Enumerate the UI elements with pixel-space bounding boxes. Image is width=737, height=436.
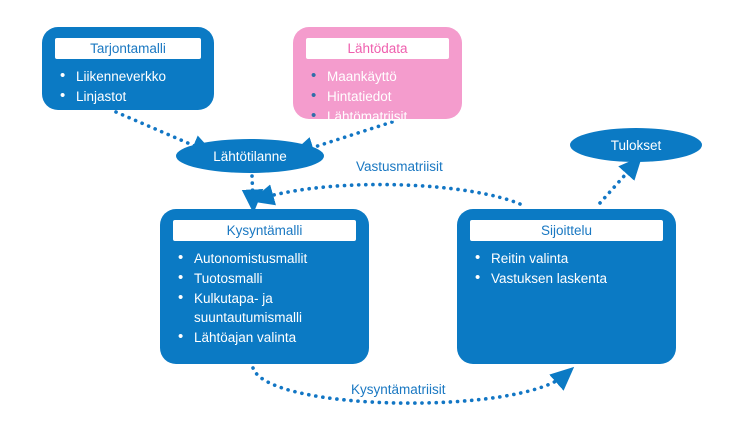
- box-sijoittelu[interactable]: Sijoittelu Reitin valinta Vastuksen lask…: [457, 209, 676, 364]
- list-item: Vastuksen laskenta: [469, 269, 664, 288]
- box-lahtodata-list: Maankäyttö Hintatiedot Lähtömatriisit: [305, 67, 450, 126]
- box-kysyntamalli-list: Autonomistusmallit Tuotosmalli Kulkutapa…: [172, 249, 357, 347]
- box-kysyntamalli-title: Kysyntämalli: [172, 219, 357, 242]
- list-item: Autonomistusmallit: [172, 249, 357, 268]
- box-tarjontamalli[interactable]: Tarjontamalli Liikenneverkko Linjastot: [42, 27, 214, 110]
- connector-label-vastusmatriisit: Vastusmatriisit: [353, 159, 446, 174]
- box-tarjontamalli-list: Liikenneverkko Linjastot: [54, 67, 202, 106]
- list-item: Kulkutapa- ja suuntautumismalli: [172, 289, 357, 327]
- list-item: Liikenneverkko: [54, 67, 202, 86]
- list-item: Maankäyttö: [305, 67, 450, 86]
- connector-sijoittelu-to-tulokset: [600, 165, 634, 203]
- list-item: Tuotosmalli: [172, 269, 357, 288]
- box-kysyntamalli[interactable]: Kysyntämalli Autonomistusmallit Tuotosma…: [160, 209, 369, 364]
- ellipse-tulokset[interactable]: Tulokset: [570, 128, 702, 162]
- diagram-canvas: Tarjontamalli Liikenneverkko Linjastot L…: [0, 0, 737, 436]
- connector-lahtotilanne-to-kysyntamalli: [252, 176, 253, 201]
- box-sijoittelu-list: Reitin valinta Vastuksen laskenta: [469, 249, 664, 288]
- connector-label-kysyntamatriisit: Kysyntämatriisit: [348, 382, 449, 397]
- box-sijoittelu-title: Sijoittelu: [469, 219, 664, 242]
- connector-lahtodata-to-lahtotilanne: [302, 122, 392, 151]
- list-item: Hintatiedot: [305, 87, 450, 106]
- box-lahtodata[interactable]: Lähtödata Maankäyttö Hintatiedot Lähtöma…: [293, 27, 462, 119]
- ellipse-lahtotilanne-label: Lähtötilanne: [213, 149, 287, 164]
- connector-tarjontamalli-to-lahtotilanne: [116, 112, 204, 150]
- connector-sijoittelu-to-kysyntamalli: [262, 185, 520, 204]
- box-lahtodata-title: Lähtödata: [305, 37, 450, 60]
- list-item: Lähtöajan valinta: [172, 328, 357, 347]
- box-tarjontamalli-title: Tarjontamalli: [54, 37, 202, 60]
- list-item: Lähtömatriisit: [305, 107, 450, 126]
- ellipse-tulokset-label: Tulokset: [611, 138, 662, 153]
- ellipse-lahtotilanne[interactable]: Lähtötilanne: [176, 139, 324, 173]
- list-item: Linjastot: [54, 87, 202, 106]
- list-item: Reitin valinta: [469, 249, 664, 268]
